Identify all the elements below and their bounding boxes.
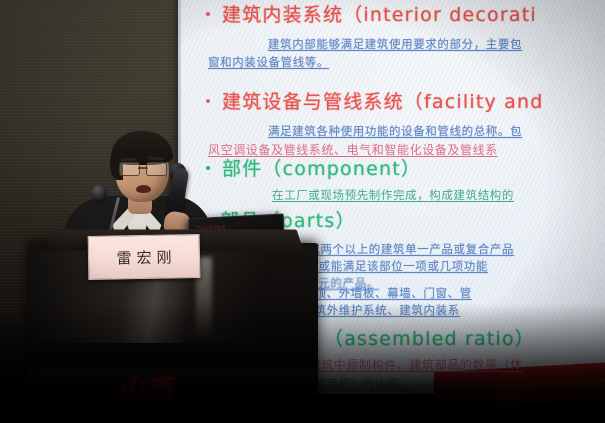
speaker-mouth — [136, 185, 151, 193]
gooseneck-microphone-icon — [92, 184, 107, 203]
bullet-line-1 — [206, 12, 210, 16]
slide-line-component-body: 在工厂或现场预先制作完成，构成建筑结构的 — [272, 187, 514, 203]
corner-bracket: 【 — [596, 0, 605, 15]
slide-line-facility-body-a: 满足建筑各种使用功能的设备和管线的总称。包 — [268, 123, 522, 139]
glasses-lens-left — [119, 162, 140, 176]
slide-line-facility-heading: 建筑设备与管线系统（facility and — [222, 87, 544, 114]
speaker-glasses — [119, 162, 167, 174]
slide-line-component-heading: 部件（component） — [222, 154, 421, 181]
screenshot-stage: 【 建筑内装系统（interior decorati 建筑内部能够满足建筑使用要… — [0, 0, 605, 423]
bullet-line-2 — [206, 99, 210, 103]
slide-corner-mark: 【 — [596, 0, 605, 15]
bullet-line-3 — [206, 166, 210, 170]
slide-line-interior-body-a: 建筑内部能够满足建筑使用要求的部分，主要包 — [268, 36, 522, 52]
speaker-name-text: 雷宏刚 — [111, 246, 176, 268]
foreground-shadow — [0, 303, 605, 423]
slide-line-interior-body-b: 窗和内装设备管线等。 — [208, 54, 329, 70]
glasses-lens-right — [146, 162, 167, 176]
speaker-name-card: 雷宏刚 — [88, 234, 201, 280]
slide-line-interior-decoration-heading: 建筑内装系统（interior decorati — [222, 0, 537, 27]
